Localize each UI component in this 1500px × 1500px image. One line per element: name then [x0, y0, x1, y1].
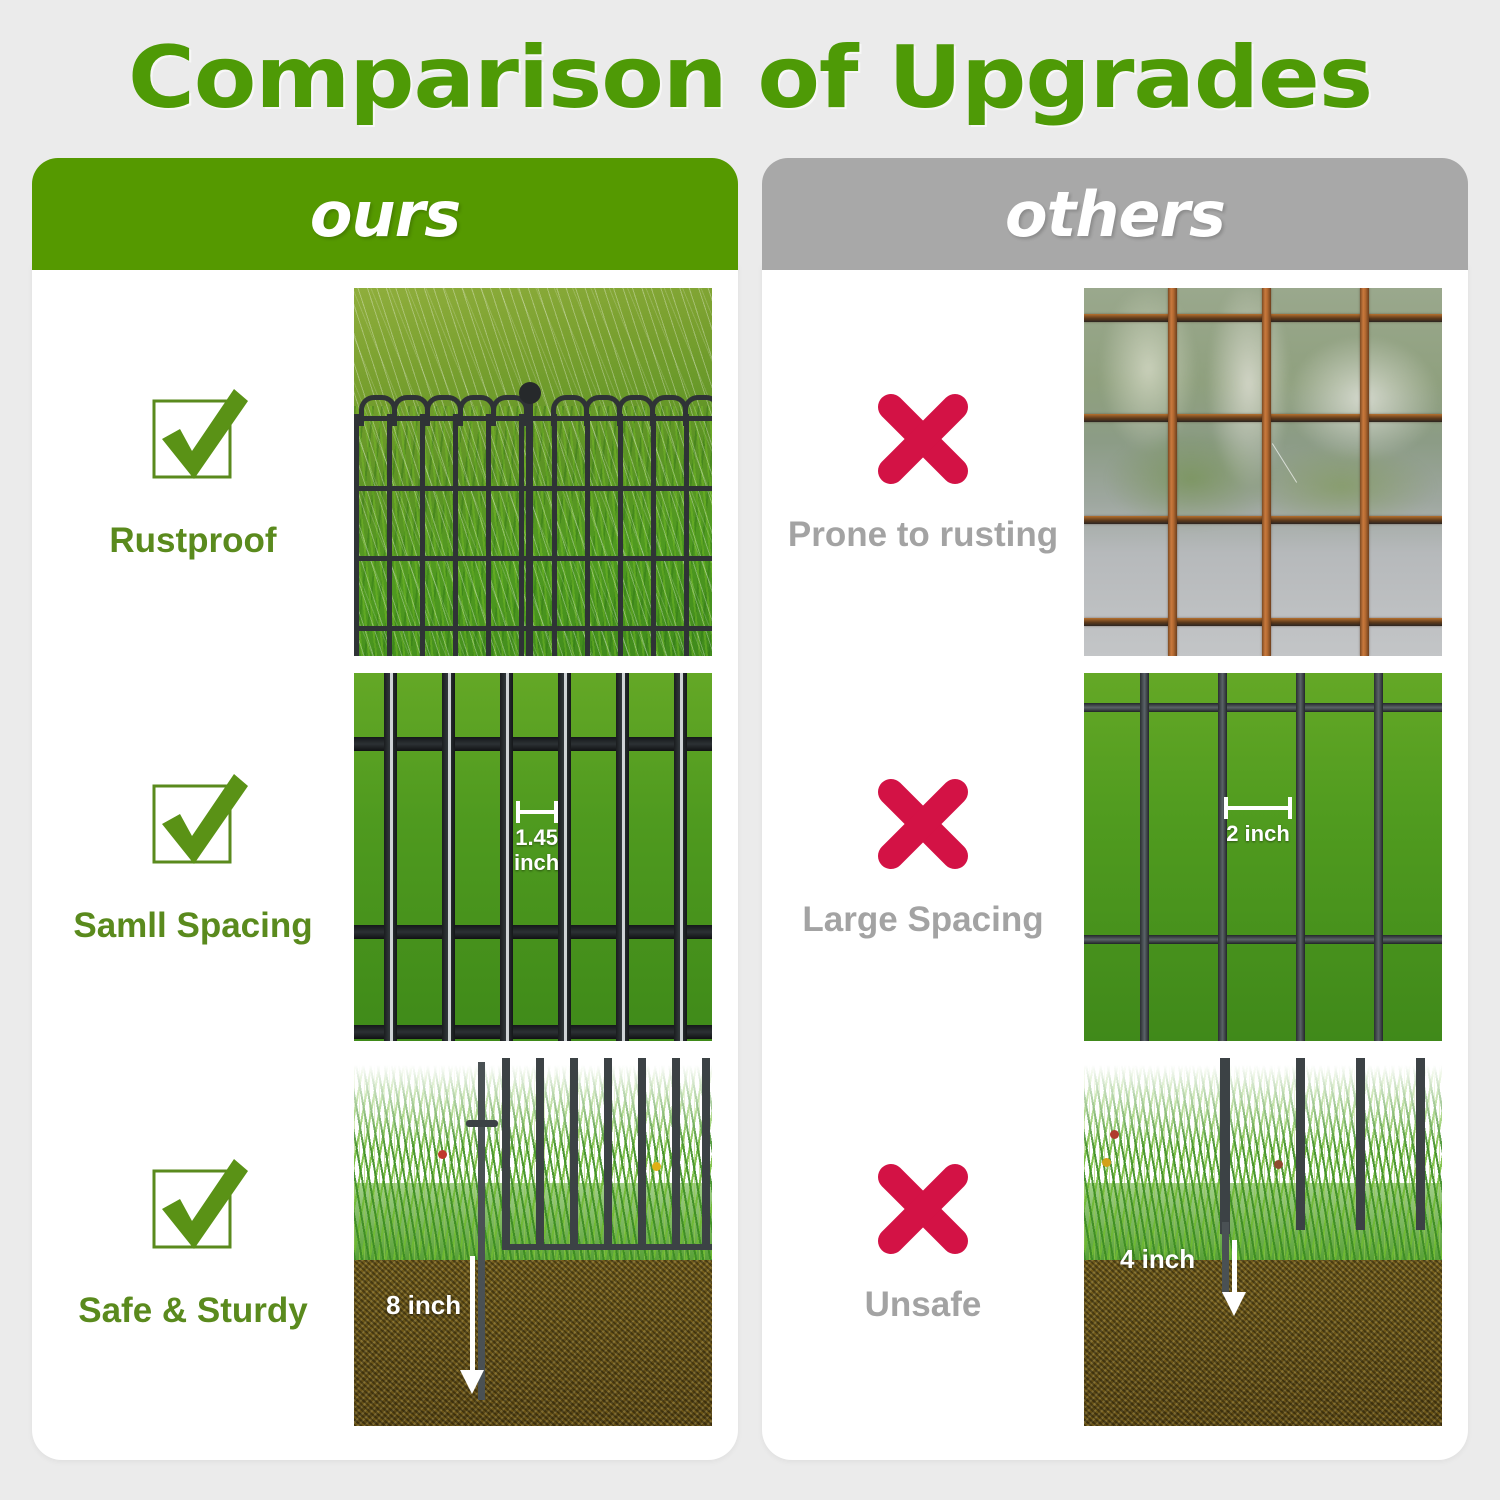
column-ours: ours Rustproof	[32, 158, 738, 1460]
feature-row-spacing: Samll Spacing	[32, 671, 738, 1043]
check-icon	[134, 383, 252, 495]
dimension-value-line1: 1.45	[514, 826, 559, 851]
feature-row-unsafe: Unsafe 4 inch	[762, 1056, 1468, 1428]
dimension-value: 2 inch	[1226, 822, 1290, 847]
feature-small-spacing: Samll Spacing	[32, 768, 354, 946]
feature-label: Large Spacing	[802, 900, 1043, 940]
x-icon	[871, 774, 975, 874]
deep-anchor-ground-photo: 8 inch	[354, 1058, 712, 1426]
x-icon	[871, 1159, 975, 1259]
shallow-anchor-ground-photo: 4 inch	[1084, 1058, 1442, 1426]
rusty-mesh-photo	[1084, 288, 1442, 656]
feature-label: Unsafe	[865, 1285, 982, 1325]
comparison-columns: ours Rustproof	[0, 158, 1500, 1463]
feature-safe-sturdy: Safe & Sturdy	[32, 1153, 354, 1331]
dimension-value: 4 inch	[1120, 1244, 1195, 1275]
x-icon	[871, 389, 975, 489]
feature-label: Rustproof	[109, 521, 276, 561]
feature-large-spacing: Large Spacing	[762, 774, 1084, 940]
feature-label: Safe & Sturdy	[78, 1291, 308, 1331]
column-body-ours: Rustproof	[32, 264, 738, 1460]
feature-label: Samll Spacing	[73, 906, 312, 946]
feature-row-large-spacing: Large Spacing 2 inch	[762, 671, 1468, 1043]
dimension-annotation-others-spacing: 2 inch	[1224, 797, 1292, 847]
feature-row-sturdy: Safe & Sturdy	[32, 1056, 738, 1428]
wide-spacing-photo: 2 inch	[1084, 673, 1442, 1041]
column-header-others: others	[762, 158, 1468, 270]
check-icon	[134, 768, 252, 880]
dimension-value-line2: inch	[514, 851, 559, 876]
column-header-others-label: others	[1005, 178, 1225, 251]
rain-fence-photo	[354, 288, 712, 656]
feature-row-rustproof: Rustproof	[32, 286, 738, 658]
narrow-spacing-photo: 1.45 inch	[354, 673, 712, 1041]
dimension-value: 8 inch	[386, 1290, 461, 1321]
column-header-ours: ours	[32, 158, 738, 270]
dimension-annotation-others-depth: 4 inch	[1120, 1244, 1195, 1275]
page-title: Comparison of Upgrades	[0, 28, 1500, 128]
feature-label: Prone to rusting	[788, 515, 1058, 555]
dimension-annotation-ours-spacing: 1.45 inch	[514, 801, 559, 875]
column-others: others Prone to rusting	[762, 158, 1468, 1460]
column-body-others: Prone to rusting	[762, 264, 1468, 1460]
feature-rustproof: Rustproof	[32, 383, 354, 561]
dimension-annotation-ours-depth: 8 inch	[386, 1290, 461, 1321]
feature-unsafe: Unsafe	[762, 1159, 1084, 1325]
column-header-ours-label: ours	[310, 178, 460, 251]
feature-prone-to-rusting: Prone to rusting	[762, 389, 1084, 555]
feature-row-rusting: Prone to rusting	[762, 286, 1468, 658]
check-icon	[134, 1153, 252, 1265]
